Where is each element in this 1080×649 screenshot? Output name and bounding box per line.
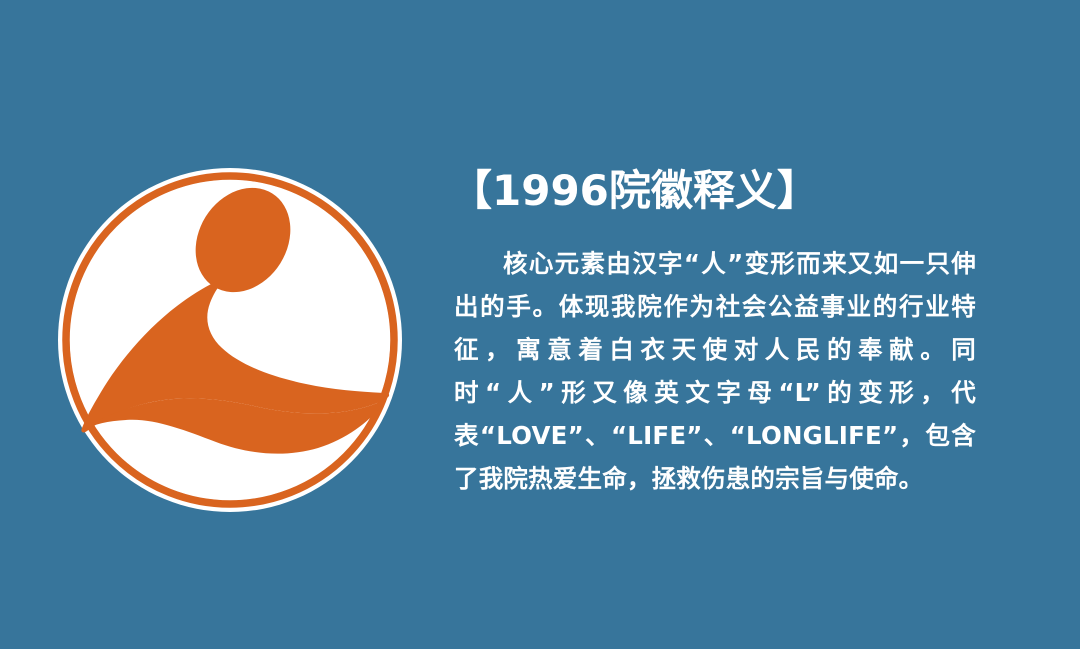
text-column: 【1996院徽释义】 核心元素由汉字“人”变形而来又如一只伸出的手。体现我院作为… — [454, 164, 984, 500]
page-title: 【1996院徽释义】 — [450, 164, 984, 218]
slide-canvas: 【1996院徽释义】 核心元素由汉字“人”变形而来又如一只伸出的手。体现我院作为… — [0, 0, 1080, 649]
emblem-description-paragraph: 核心元素由汉字“人”变形而来又如一只伸出的手。体现我院作为社会公益事业的行业特征… — [454, 242, 976, 500]
hospital-emblem-logo — [56, 166, 404, 514]
emblem-svg — [56, 166, 404, 514]
